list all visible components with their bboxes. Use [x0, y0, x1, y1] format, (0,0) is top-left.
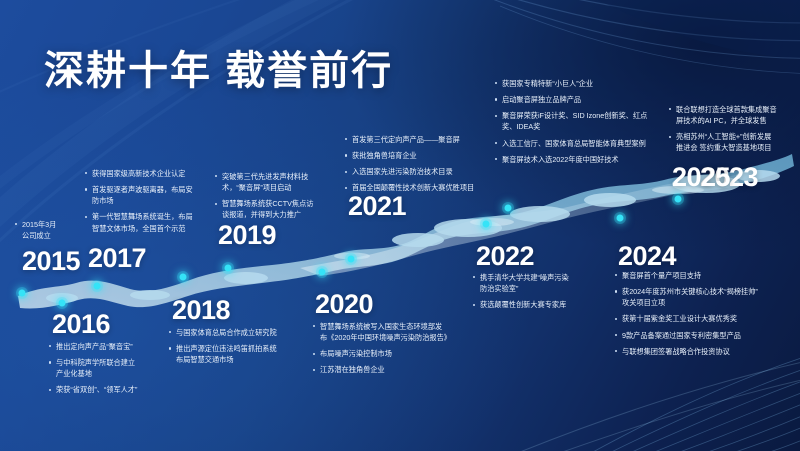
timeline-node-2015 — [19, 290, 26, 297]
list-item: 获国家专精特新“小巨人”企业 — [494, 78, 670, 89]
bullets-2015: 2015年3月 公司成立 — [14, 219, 86, 241]
list-item: 入选工信厅、国家体育总局智能体育典型案例 — [494, 138, 670, 149]
year-label-2021: 2021 — [348, 193, 406, 220]
list-item: 获得国家级高新技术企业认定 — [84, 168, 206, 179]
year-label-2022: 2022 — [476, 243, 534, 270]
timeline-node-2019 — [225, 265, 232, 272]
timeline-node-2024 — [617, 215, 624, 222]
list-item: 首发驱逐者声波驱离器，布局安 防市场 — [84, 184, 206, 206]
timeline-node-2022 — [483, 221, 490, 228]
timeline-node-2016 — [59, 300, 66, 307]
bullets-2016: 推出定向声产品“聚音宝” 与中科院声学所联合建立 产业化基地 荣获“省双创”、“… — [48, 341, 160, 396]
bullets-2025: 联合联想打造全球首款集成聚音 屏技术的AI PC，并全球发售 亮相苏州“人工智能… — [668, 104, 796, 154]
bullets-2020: 智慧舞场系统被写入国家生态环境部发 布《2020年中国环境噪声污染防治报告》 布… — [312, 321, 464, 376]
timeline-node-2017 — [94, 283, 101, 290]
list-item: 布局噪声污染控制市场 — [312, 348, 464, 359]
list-item: 荣获“省双创”、“领军人才” — [48, 384, 160, 395]
list-item: 聚音屏荣获iF设计奖、SID Izone创新奖、红点 奖、IDEA奖 — [494, 110, 670, 132]
bullets-2022: 携手清华大学共建“噪声污染 防治实验室” 获选颠覆性创新大赛专家库 — [472, 272, 592, 310]
list-item: 推出定向声产品“聚音宝” — [48, 341, 160, 352]
list-item: 第一代智慧舞场系统诞生，布局 智慧文体市场，全国首个示范 — [84, 211, 206, 233]
list-item: 启动聚音屏独立品牌产品 — [494, 94, 670, 105]
bullets-2018: 与国家体育总局合作成立研究院 推出声源定位违法鸣笛抓拍系统 布局智慧交通市场 — [168, 327, 300, 365]
year-label-2016: 2016 — [52, 311, 110, 338]
list-item: 聚音屏首个量产项目支持 — [614, 270, 786, 281]
list-item: 与中科院声学所联合建立 产业化基地 — [48, 357, 160, 379]
list-item: 联合联想打造全球首款集成聚音 屏技术的AI PC，并全球发售 — [668, 104, 796, 126]
year-label-2017: 2017 — [88, 245, 146, 272]
timeline-poster: 深耕十年 载誉前行 2015 — [0, 0, 800, 451]
year-label-2019: 2019 — [218, 222, 276, 249]
timeline-node-2025 — [675, 196, 682, 203]
list-item: 获第十届紫金奖工业设计大赛优秀奖 — [614, 313, 786, 324]
bullets-2024: 聚音屏首个量产项目支持 获2024年度苏州市关键核心技术“揭榜挂帅” 攻关项目立… — [614, 270, 786, 357]
year-label-2015: 2015 — [22, 248, 80, 275]
bullets-2019: 突破第三代先进发声材料技 术，“聚音屏”项目启动 智慧舞场系统获CCTV焦点访 … — [214, 171, 332, 221]
list-item: 亮相苏州“人工智能+”创新发展 推进会 签约重大智造基地项目 — [668, 131, 796, 153]
list-item: 聚音屏技术入选2022年度中国好技术 — [494, 154, 670, 165]
bullets-2021: 首发第三代定向声产品——聚音屏 获批独角兽培育企业 入选国家先进污染防治技术目录… — [344, 134, 504, 194]
list-item: 与联想集团签署战略合作投资协议 — [614, 346, 786, 357]
list-item: 智慧舞场系统获CCTV焦点访 谈报道，并得到大力推广 — [214, 198, 332, 220]
bullets-2017: 获得国家级高新技术企业认定 首发驱逐者声波驱离器，布局安 防市场 第一代智慧舞场… — [84, 168, 206, 234]
year-label-2024: 2024 — [618, 243, 676, 270]
timeline-node-2020 — [319, 269, 326, 276]
list-item: 首发第三代定向声产品——聚音屏 — [344, 134, 504, 145]
year-label-2020: 2020 — [315, 291, 373, 318]
list-item: 9款产品备案通过国家专利密集型产品 — [614, 330, 786, 341]
list-item: 首届全国颠覆性技术创新大赛优胜项目 — [344, 182, 504, 193]
timeline-node-2023 — [505, 205, 512, 212]
list-item: 获选颠覆性创新大赛专家库 — [472, 299, 592, 310]
list-item: 获批独角兽培育企业 — [344, 150, 504, 161]
list-item: 智慧舞场系统被写入国家生态环境部发 布《2020年中国环境噪声污染防治报告》 — [312, 321, 464, 343]
list-item: 获2024年度苏州市关键核心技术“揭榜挂帅” 攻关项目立项 — [614, 286, 786, 308]
year-label-2025: 2025 — [672, 164, 730, 191]
list-item: 携手清华大学共建“噪声污染 防治实验室” — [472, 272, 592, 294]
list-item: 2015年3月 公司成立 — [14, 219, 86, 241]
page-title: 深耕十年 载誉前行 — [44, 38, 393, 96]
year-label-2018: 2018 — [172, 297, 230, 324]
list-item: 推出声源定位违法鸣笛抓拍系统 布局智慧交通市场 — [168, 343, 300, 365]
bullets-2023: 获国家专精特新“小巨人”企业 启动聚音屏独立品牌产品 聚音屏荣获iF设计奖、SI… — [494, 78, 670, 165]
list-item: 江苏潜在独角兽企业 — [312, 364, 464, 375]
list-item: 入选国家先进污染防治技术目录 — [344, 166, 504, 177]
timeline-node-2018 — [180, 274, 187, 281]
list-item: 突破第三代先进发声材料技 术，“聚音屏”项目启动 — [214, 171, 332, 193]
list-item: 与国家体育总局合作成立研究院 — [168, 327, 300, 338]
timeline-node-2021 — [348, 256, 355, 263]
